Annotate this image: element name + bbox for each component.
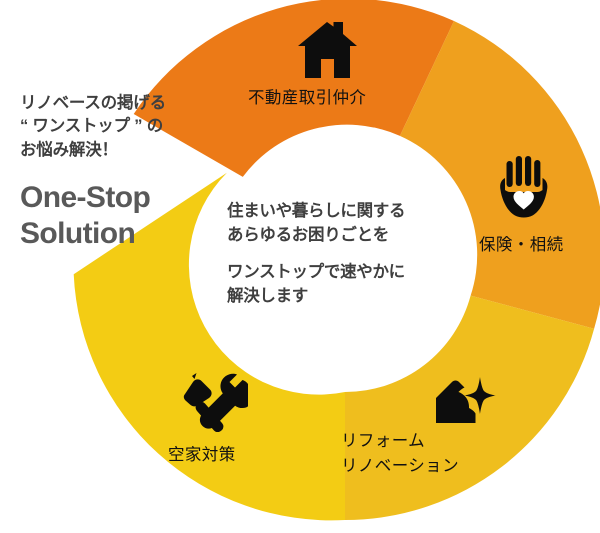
center-copy-line: ワンストップで速やかに <box>227 261 442 285</box>
page-title: One-Stop Solution <box>20 180 220 251</box>
segment-label-line: リフォーム <box>341 429 459 454</box>
segment-label-line: 空家対策 <box>168 443 236 468</box>
center-copy-line: 解決します <box>227 285 442 309</box>
segment-label-reform: リフォーム リノベーション <box>341 429 459 479</box>
segment-label-line: リノベーション <box>341 454 459 479</box>
segment-label-insurance: 保険・相続 <box>479 233 564 258</box>
hand-heart-icon <box>499 156 551 218</box>
house-icon <box>296 21 360 79</box>
center-copy-line: 住まいや暮らしに関する <box>227 200 442 224</box>
center-copy: 住まいや暮らしに関する あらゆるお困りごとを ワンストップで速やかに 解決します <box>227 200 442 309</box>
segment-label-line: 不動産取引仲介 <box>248 86 366 111</box>
segment-label-realestate: 不動産取引仲介 <box>248 86 366 111</box>
house-sparkle-icon <box>434 377 496 425</box>
lead-line: “ ワンストップ ” の <box>20 115 220 138</box>
segment-label-line: 保険・相続 <box>479 233 564 258</box>
lead-line: お悩み解決！ <box>20 139 220 162</box>
center-copy-line: あらゆるお困りごとを <box>227 224 442 248</box>
page-title-line: One-Stop <box>20 180 220 215</box>
headline-block: リノベースの掲げる “ ワンストップ ” の お悩み解決！ One-Stop S… <box>20 92 220 251</box>
page-title-line: Solution <box>20 216 220 251</box>
lead-line: リノベースの掲げる <box>20 92 220 115</box>
infographic-canvas: 不動産取引仲介 保険・相続 リフォーム リノベーション 空家対策 住まいや暮らし… <box>0 0 600 533</box>
hammer-wrench-icon <box>180 372 248 432</box>
segment-label-vacant: 空家対策 <box>168 443 236 468</box>
